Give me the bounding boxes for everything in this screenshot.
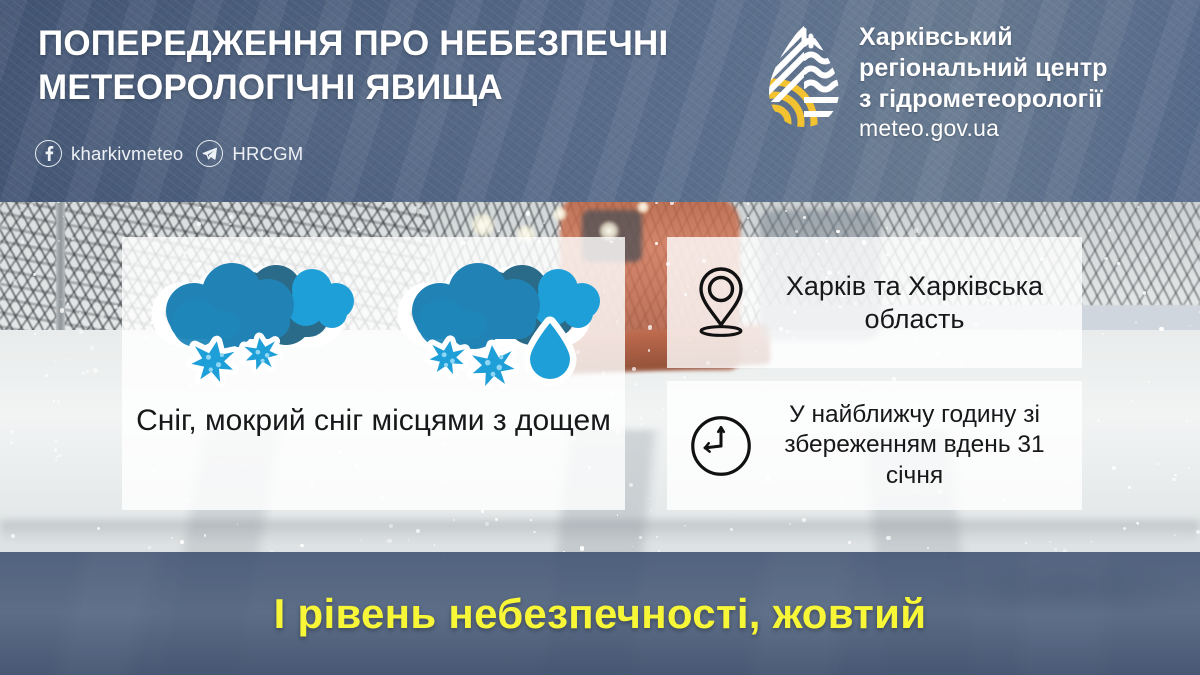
weather-caption: Сніг, мокрий сніг місцями з дощем [136,402,611,440]
logo-text: Харківський регіональний центр з гідроме… [859,22,1108,143]
facebook-handle: kharkivmeteo [71,143,183,165]
telegram-handle: HRCGM [232,143,303,165]
logo-website-url[interactable]: meteo.gov.ua [859,114,1108,142]
time-text: У найближчу годину зі збереженням вдень … [761,400,1068,492]
region-panel: Харків та Харківська область [667,237,1082,368]
hydrometeorology-droplet-logo-icon [765,22,843,130]
header-bar: ПОПЕРЕДЖЕННЯ ПРО НЕБЕЗПЕЧНІ МЕТЕОРОЛОГІЧ… [0,0,1200,202]
danger-level-banner: І рівень небезпечності, жовтий [0,552,1200,675]
logo-line-2: регіональний центр [859,53,1108,84]
weather-icons-row [122,249,625,389]
social-link-facebook[interactable]: kharkivmeteo [35,140,183,167]
organization-logo[interactable]: Харківський регіональний центр з гідроме… [765,22,1108,143]
facebook-icon [35,140,62,167]
clock-icon [689,412,753,480]
region-text: Харків та Харківська область [761,270,1068,336]
location-pin-icon [689,265,753,341]
weather-warning-infographic: ПОПЕРЕДЖЕННЯ ПРО НЕБЕЗПЕЧНІ МЕТЕОРОЛОГІЧ… [0,0,1200,675]
logo-line-3: з гідрометеорології [859,84,1108,115]
danger-level-text: І рівень небезпечності, жовтий [274,590,927,638]
cloud-snow-rain-icon [382,249,612,389]
social-link-telegram[interactable]: HRCGM [196,140,303,167]
logo-line-1: Харківський [859,22,1108,53]
page-title: ПОПЕРЕДЖЕННЯ ПРО НЕБЕЗПЕЧНІ МЕТЕОРОЛОГІЧ… [38,22,758,110]
raindrop-icon [530,323,570,379]
cloud-snow-icon [136,249,366,389]
time-panel: У найближчу годину зі збереженням вдень … [667,381,1082,510]
weather-phenomenon-panel: Сніг, мокрий сніг місцями з дощем [122,237,625,510]
social-links: kharkivmeteo HRCGM [35,140,303,167]
telegram-icon [196,140,223,167]
